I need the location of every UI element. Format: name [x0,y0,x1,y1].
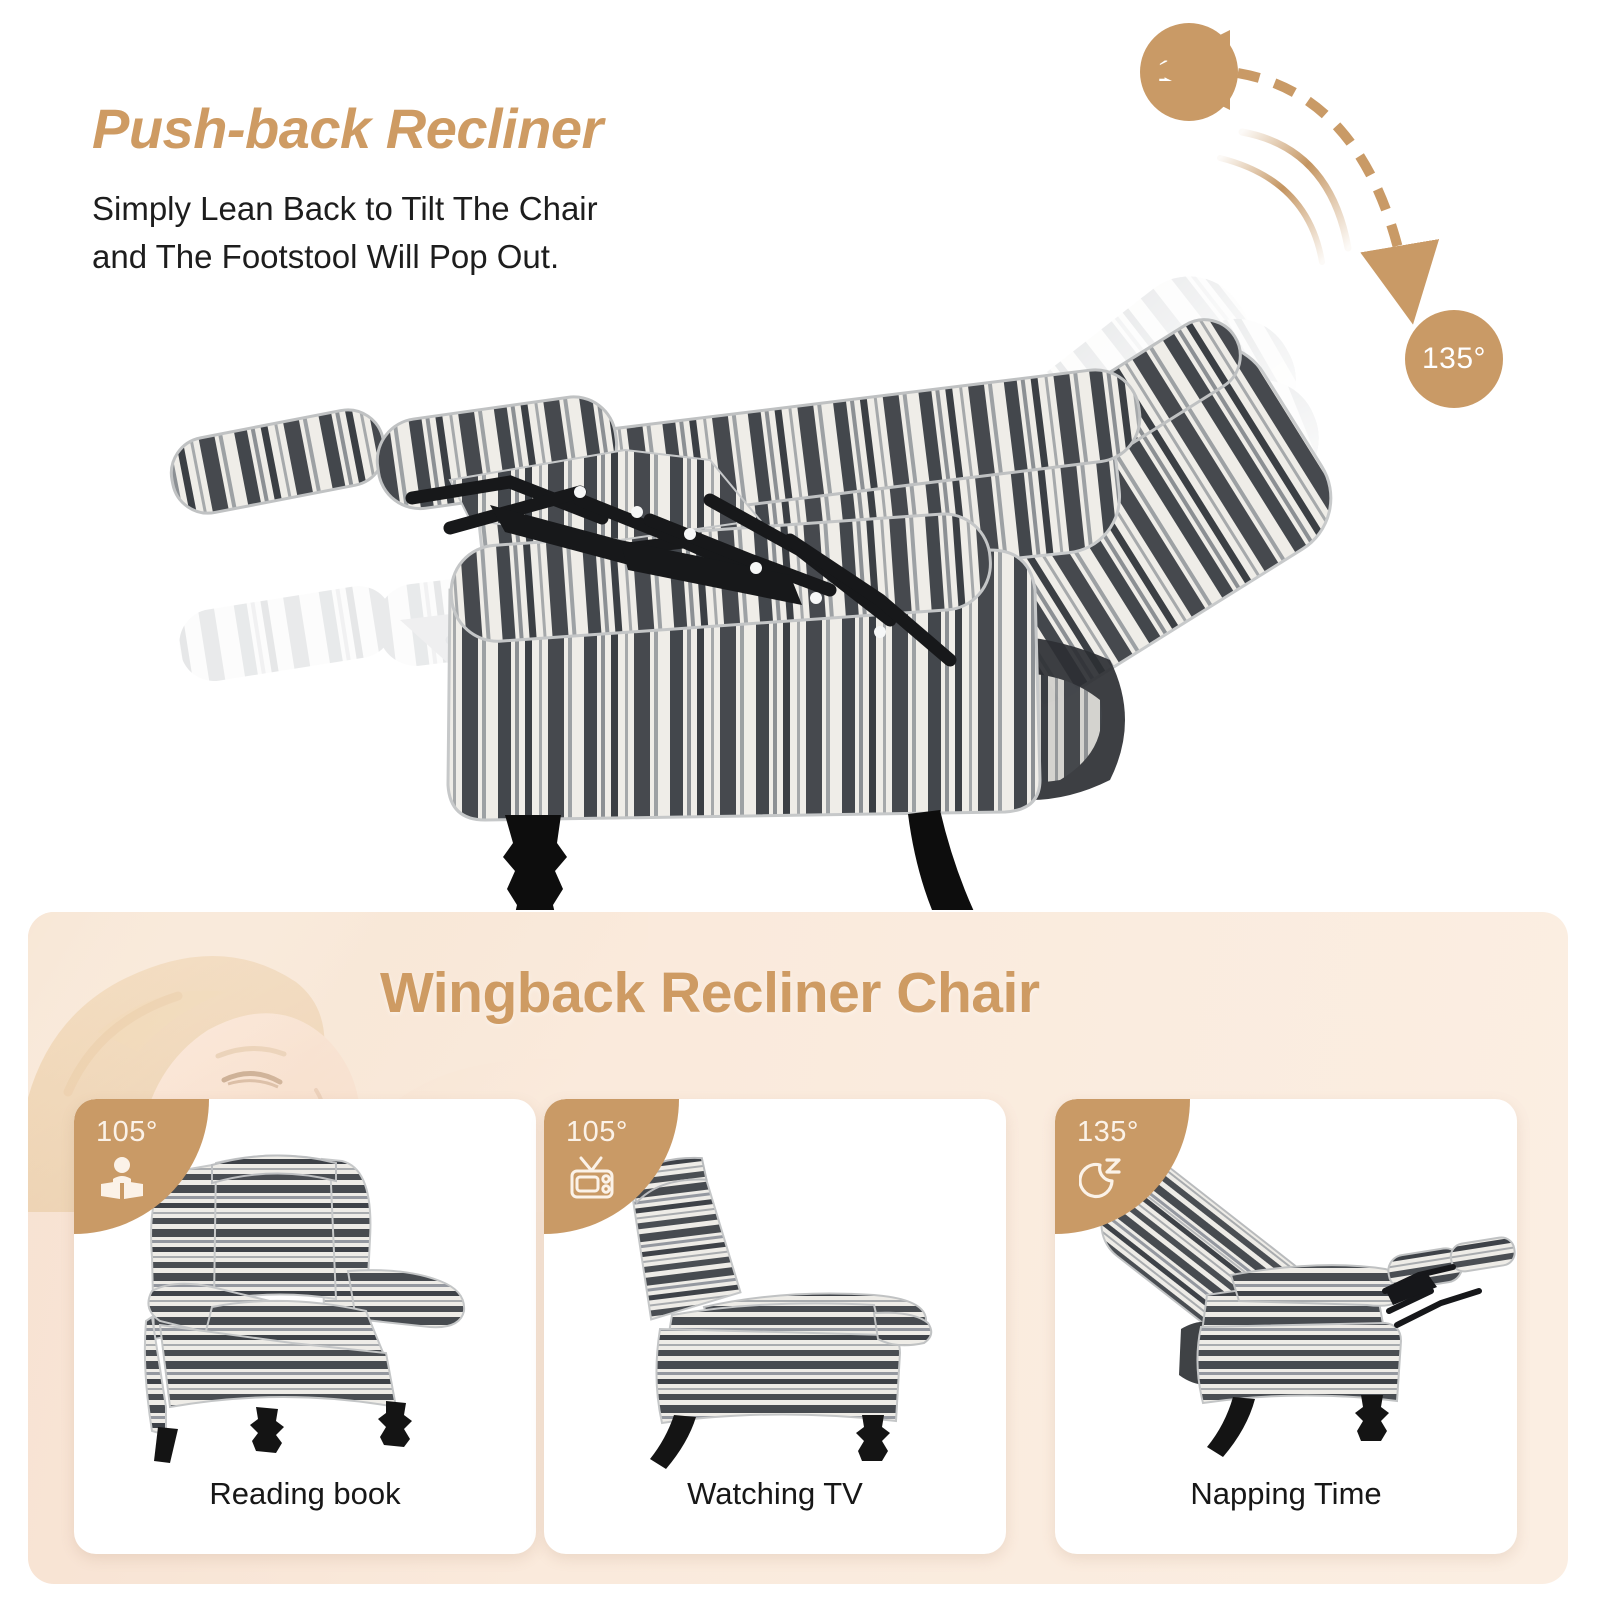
moon-z-sleep-icon [1079,1154,1127,1202]
card-angle-label: 105° [566,1116,628,1149]
curved-dashed-double-arrow-icon [1180,40,1560,350]
card-angle-label: 135° [1077,1116,1139,1149]
feature-card-tv[interactable]: 105° Watching TV [544,1099,1006,1554]
card-angle-label: 105° [96,1116,158,1149]
top-section: Push-back Recliner Simply Lean Back to T… [0,0,1600,910]
person-reading-book-icon [98,1154,146,1202]
feature-card-reading[interactable]: 105° Reading book [74,1099,536,1554]
card-caption-napping: Napping Time [1055,1476,1517,1512]
card-caption-tv: Watching TV [544,1476,1006,1512]
television-icon [568,1154,616,1202]
feature-card-napping[interactable]: 135° Napping Time [1055,1099,1517,1554]
card-caption-reading: Reading book [74,1476,536,1512]
bottom-section: Wingback Recliner Chair [28,912,1568,1584]
section-heading: Wingback Recliner Chair [380,960,1040,1026]
